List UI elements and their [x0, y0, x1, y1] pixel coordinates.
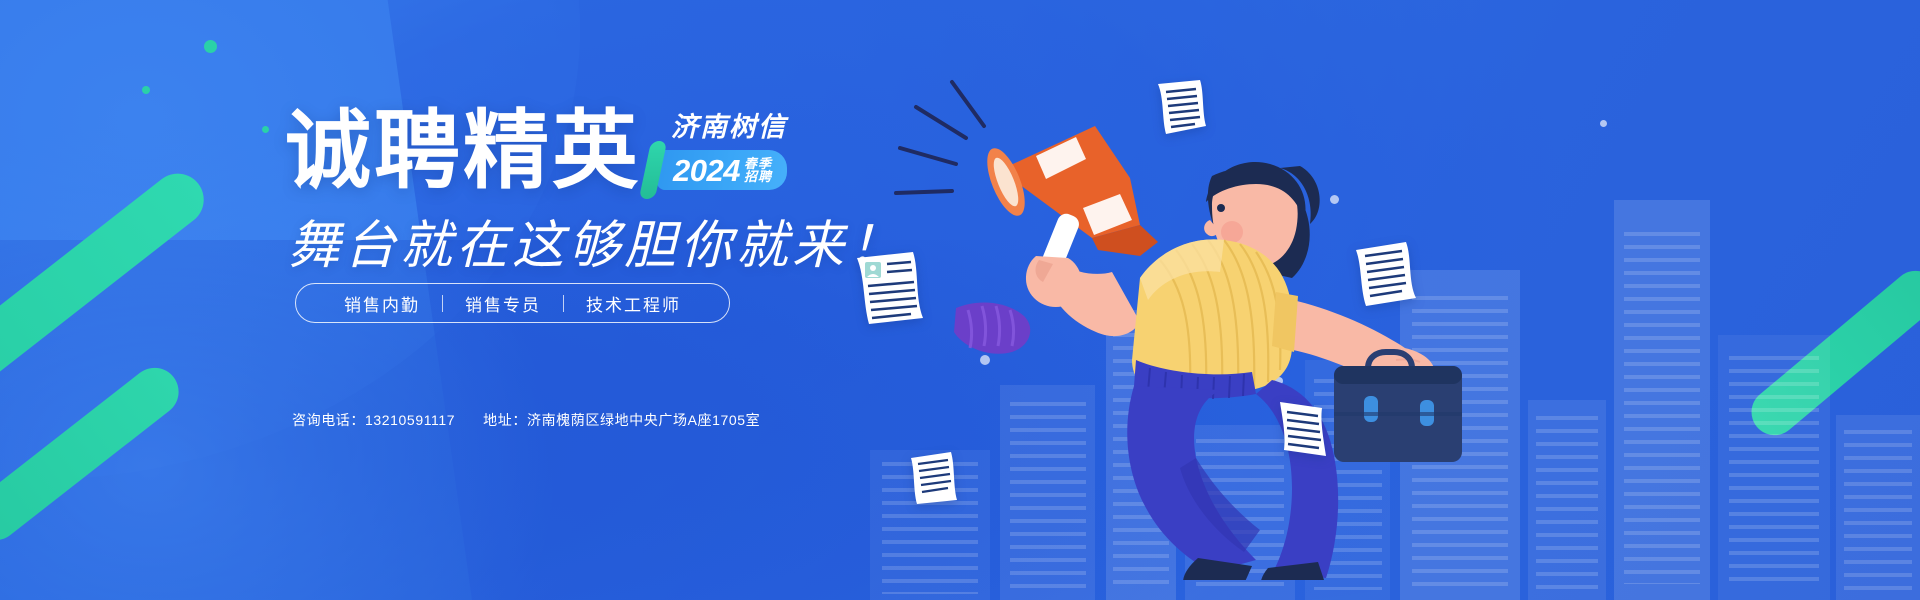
- badge-season-line1: 春季: [744, 157, 772, 170]
- headline-row: 诚聘精英 济南树信 2024 春季 招聘: [285, 105, 787, 194]
- recruitment-banner: 诚聘精英 济南树信 2024 春季 招聘 舞台就在这够胆你就来！ 销售内勤 销售…: [0, 0, 1920, 600]
- company-name: 济南树信: [671, 105, 787, 144]
- building: [1718, 335, 1830, 600]
- phone-value: 13210591117: [365, 412, 455, 428]
- badge-season: 春季 招聘: [744, 157, 772, 184]
- building-tower: [1614, 200, 1710, 600]
- purple-shoe: [954, 302, 1030, 353]
- badge-year: 2024: [673, 155, 740, 186]
- phone-label: 咨询电话：: [292, 410, 365, 430]
- brand-badge-group: 济南树信 2024 春季 招聘: [657, 105, 787, 194]
- page-subtitle: 舞台就在这够胆你就来！: [288, 203, 904, 278]
- flying-document-3: [1350, 238, 1422, 308]
- job-tags-pill: 销售内勤 销售专员 技术工程师: [295, 283, 730, 323]
- text-content: 诚聘精英 济南树信 2024 春季 招聘 舞台就在这够胆你就来！ 销售内勤 销售…: [0, 0, 900, 600]
- sparkle-dot-4: [1600, 120, 1607, 127]
- address-label: 地址：: [483, 410, 527, 430]
- flying-document-1: [1150, 78, 1212, 140]
- sound-lines-icon: [896, 82, 984, 193]
- briefcase-icon: [1334, 352, 1462, 462]
- badge-season-line2: 招聘: [744, 170, 772, 183]
- building: [1528, 400, 1606, 600]
- address-value: 济南槐荫区绿地中央广场A座1705室: [527, 410, 760, 430]
- flying-document-5: [905, 448, 963, 506]
- flying-document-2: [851, 248, 931, 328]
- building: [1836, 415, 1920, 600]
- page-title: 诚聘精英: [285, 108, 641, 194]
- job-tag-1[interactable]: 销售专员: [443, 291, 563, 316]
- season-badge: 2024 春季 招聘: [657, 150, 787, 190]
- job-tag-0[interactable]: 销售内勤: [322, 291, 442, 316]
- contact-info: 咨询电话： 13210591117 地址： 济南槐荫区绿地中央广场A座1705室: [292, 410, 760, 430]
- flying-document-4: [1270, 398, 1334, 462]
- job-tag-2[interactable]: 技术工程师: [564, 291, 703, 316]
